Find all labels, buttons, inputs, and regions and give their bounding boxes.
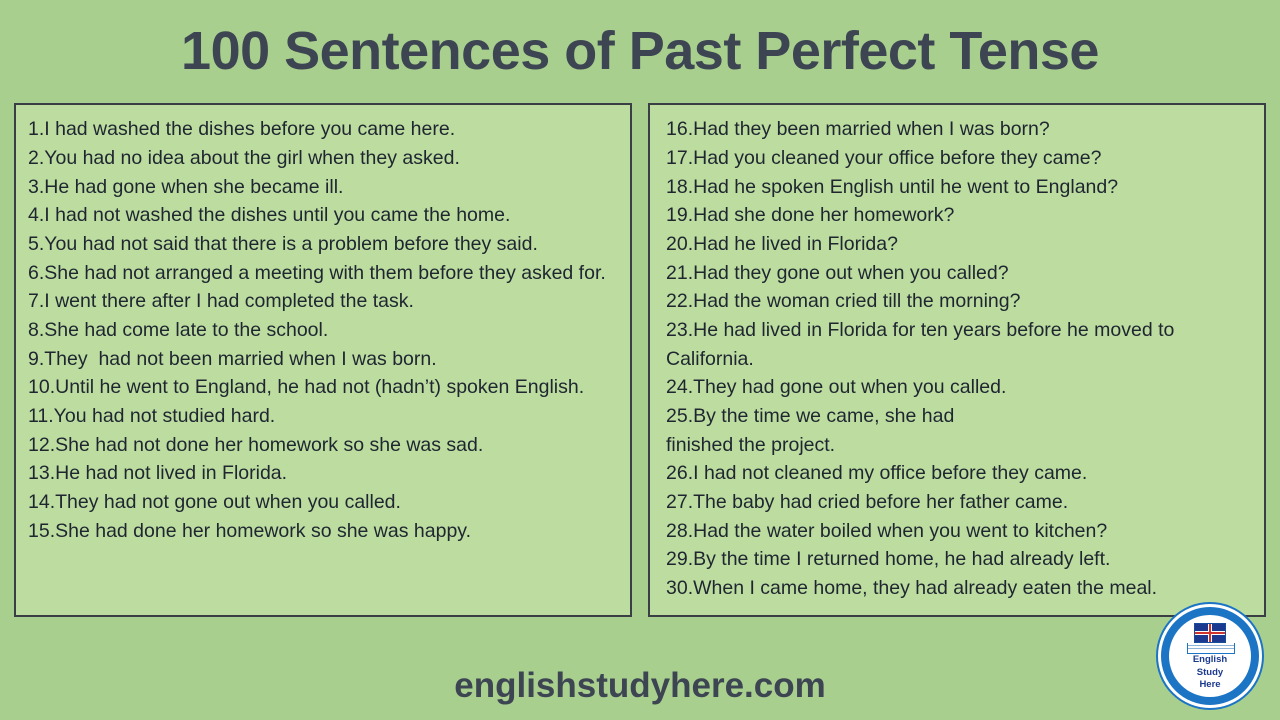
- list-item: 8.She had come late to the school.: [28, 316, 618, 345]
- list-item: 19.Had she done her homework?: [666, 201, 1252, 230]
- book-flag-icon: [1187, 623, 1233, 653]
- list-item: 25.By the time we came, she had finished…: [666, 402, 1252, 459]
- list-item: 29.By the time I returned home, he had a…: [666, 545, 1252, 574]
- list-item: 20.Had he lived in Florida?: [666, 230, 1252, 259]
- list-item: 15.She had done her homework so she was …: [28, 517, 618, 546]
- poster-page: 100 Sentences of Past Perfect Tense 1.I …: [0, 0, 1280, 720]
- logo-line-2: Study: [1197, 668, 1223, 678]
- list-item: 7.I went there after I had completed the…: [28, 287, 618, 316]
- page-title: 100 Sentences of Past Perfect Tense: [0, 0, 1280, 81]
- right-sentence-panel: 16.Had they been married when I was born…: [648, 103, 1266, 616]
- list-item: 26.I had not cleaned my office before th…: [666, 459, 1252, 488]
- sentence-columns: 1.I had washed the dishes before you cam…: [0, 103, 1280, 616]
- list-item: 24.They had gone out when you called.: [666, 373, 1252, 402]
- list-item: 1.I had washed the dishes before you cam…: [28, 115, 618, 144]
- list-item: 10.Until he went to England, he had not …: [28, 373, 618, 402]
- list-item: 6.She had not arranged a meeting with th…: [28, 259, 618, 288]
- left-sentence-panel: 1.I had washed the dishes before you cam…: [14, 103, 632, 616]
- list-item: 12.She had not done her homework so she …: [28, 431, 618, 460]
- list-item: 17.Had you cleaned your office before th…: [666, 144, 1252, 173]
- list-item: 16.Had they been married when I was born…: [666, 115, 1252, 144]
- list-item: 18.Had he spoken English until he went t…: [666, 173, 1252, 202]
- list-item: 2.You had no idea about the girl when th…: [28, 144, 618, 173]
- logo-line-1: English: [1193, 655, 1227, 665]
- list-item: 22.Had the woman cried till the morning?: [666, 287, 1252, 316]
- list-item: 13.He had not lived in Florida.: [28, 459, 618, 488]
- list-item: 9.They had not been married when I was b…: [28, 345, 618, 374]
- site-name: englishstudyhere.com: [454, 666, 825, 705]
- list-item: 14.They had not gone out when you called…: [28, 488, 618, 517]
- english-study-here-logo: English Study Here: [1158, 604, 1262, 708]
- list-item: 21.Had they gone out when you called?: [666, 259, 1252, 288]
- list-item: 4.I had not washed the dishes until you …: [28, 201, 618, 230]
- logo-line-3: Here: [1199, 680, 1220, 690]
- list-item: 30.When I came home, they had already ea…: [666, 574, 1252, 603]
- footer: englishstudyhere.com: [0, 666, 1280, 706]
- list-item: 11.You had not studied hard.: [28, 402, 618, 431]
- list-item: 28.Had the water boiled when you went to…: [666, 517, 1252, 546]
- book-pages-icon: [1187, 643, 1235, 654]
- uk-flag-icon: [1194, 623, 1226, 643]
- flag-cross-vertical: [1209, 624, 1211, 642]
- list-item: 3.He had gone when she became ill.: [28, 173, 618, 202]
- list-item: 27.The baby had cried before her father …: [666, 488, 1252, 517]
- list-item: 23.He had lived in Florida for ten years…: [666, 316, 1252, 373]
- list-item: 5.You had not said that there is a probl…: [28, 230, 618, 259]
- logo-inner: English Study Here: [1169, 615, 1251, 697]
